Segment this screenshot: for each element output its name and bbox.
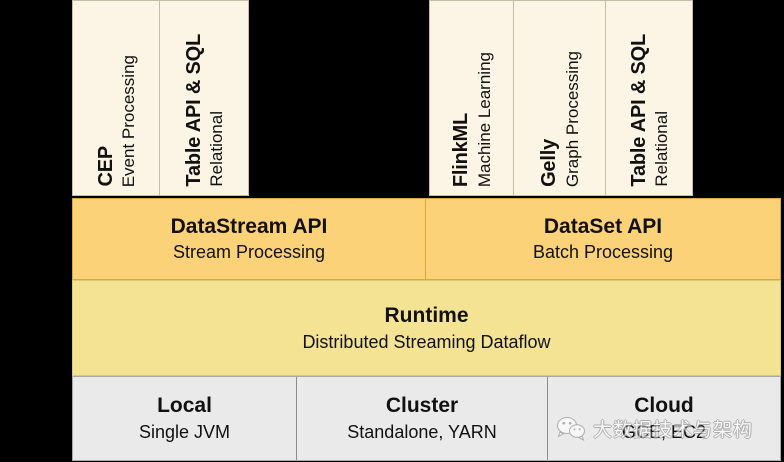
library-layer: CEP Event Processing Table API & SQL Rel… [0, 0, 784, 198]
deployment-cell-cloud: Cloud GCE, EC2 [548, 377, 780, 460]
deployment-name-local: Local [157, 394, 212, 418]
library-desc-table-api-sql-streaming: Relational [208, 111, 226, 187]
library-group-streaming: CEP Event Processing Table API & SQL Rel… [72, 0, 249, 196]
api-desc-datastream: Stream Processing [173, 242, 325, 263]
library-cell-label: Table API & SQL Relational [160, 0, 248, 187]
runtime-name: Runtime [385, 304, 469, 328]
deployment-layer: Local Single JVM Cluster Standalone, YAR… [72, 376, 781, 461]
api-desc-dataset: Batch Processing [533, 242, 673, 263]
library-name-table-api-sql-streaming: Table API & SQL [184, 34, 205, 187]
library-name-table-api-sql-batch: Table API & SQL [629, 34, 650, 187]
library-cell-label: Gelly Graph Processing [514, 0, 605, 187]
deployment-cell-local: Local Single JVM [73, 377, 297, 460]
library-desc-gelly: Graph Processing [564, 51, 582, 187]
library-desc-flinkml: Machine Learning [476, 52, 494, 187]
api-cell-dataset: DataSet API Batch Processing [426, 199, 780, 279]
library-cell-cep: CEP Event Processing [73, 1, 160, 195]
api-name-datastream: DataStream API [171, 215, 328, 239]
library-name-flinkml: FlinkML [451, 113, 472, 187]
flink-stack-diagram: CEP Event Processing Table API & SQL Rel… [0, 0, 784, 462]
library-cell-label: Table API & SQL Relational [606, 0, 692, 187]
library-cell-gelly: Gelly Graph Processing [514, 1, 606, 195]
deployment-desc-local: Single JVM [139, 422, 230, 443]
deployment-name-cluster: Cluster [386, 394, 458, 418]
library-cell-flinkml: FlinkML Machine Learning [430, 1, 514, 195]
api-cell-datastream: DataStream API Stream Processing [73, 199, 426, 279]
library-cell-table-api-sql-batch: Table API & SQL Relational [606, 1, 692, 195]
library-cell-label: CEP Event Processing [73, 0, 159, 187]
library-group-batch: FlinkML Machine Learning Gelly Graph Pro… [429, 0, 693, 196]
api-layer: DataStream API Stream Processing DataSet… [72, 198, 781, 280]
library-desc-table-api-sql-batch: Relational [653, 111, 671, 187]
deployment-cell-cluster: Cluster Standalone, YARN [297, 377, 548, 460]
deployment-desc-cluster: Standalone, YARN [347, 422, 496, 443]
library-cell-label: FlinkML Machine Learning [430, 0, 513, 187]
runtime-layer: Runtime Distributed Streaming Dataflow [72, 280, 781, 376]
library-name-cep: CEP [96, 146, 117, 187]
library-name-gelly: Gelly [539, 139, 560, 187]
api-name-dataset: DataSet API [544, 215, 662, 239]
deployment-name-cloud: Cloud [634, 394, 693, 418]
library-desc-cep: Event Processing [120, 55, 138, 187]
deployment-desc-cloud: GCE, EC2 [622, 422, 706, 443]
library-cell-table-api-sql-streaming: Table API & SQL Relational [160, 1, 248, 195]
runtime-desc: Distributed Streaming Dataflow [302, 332, 550, 353]
